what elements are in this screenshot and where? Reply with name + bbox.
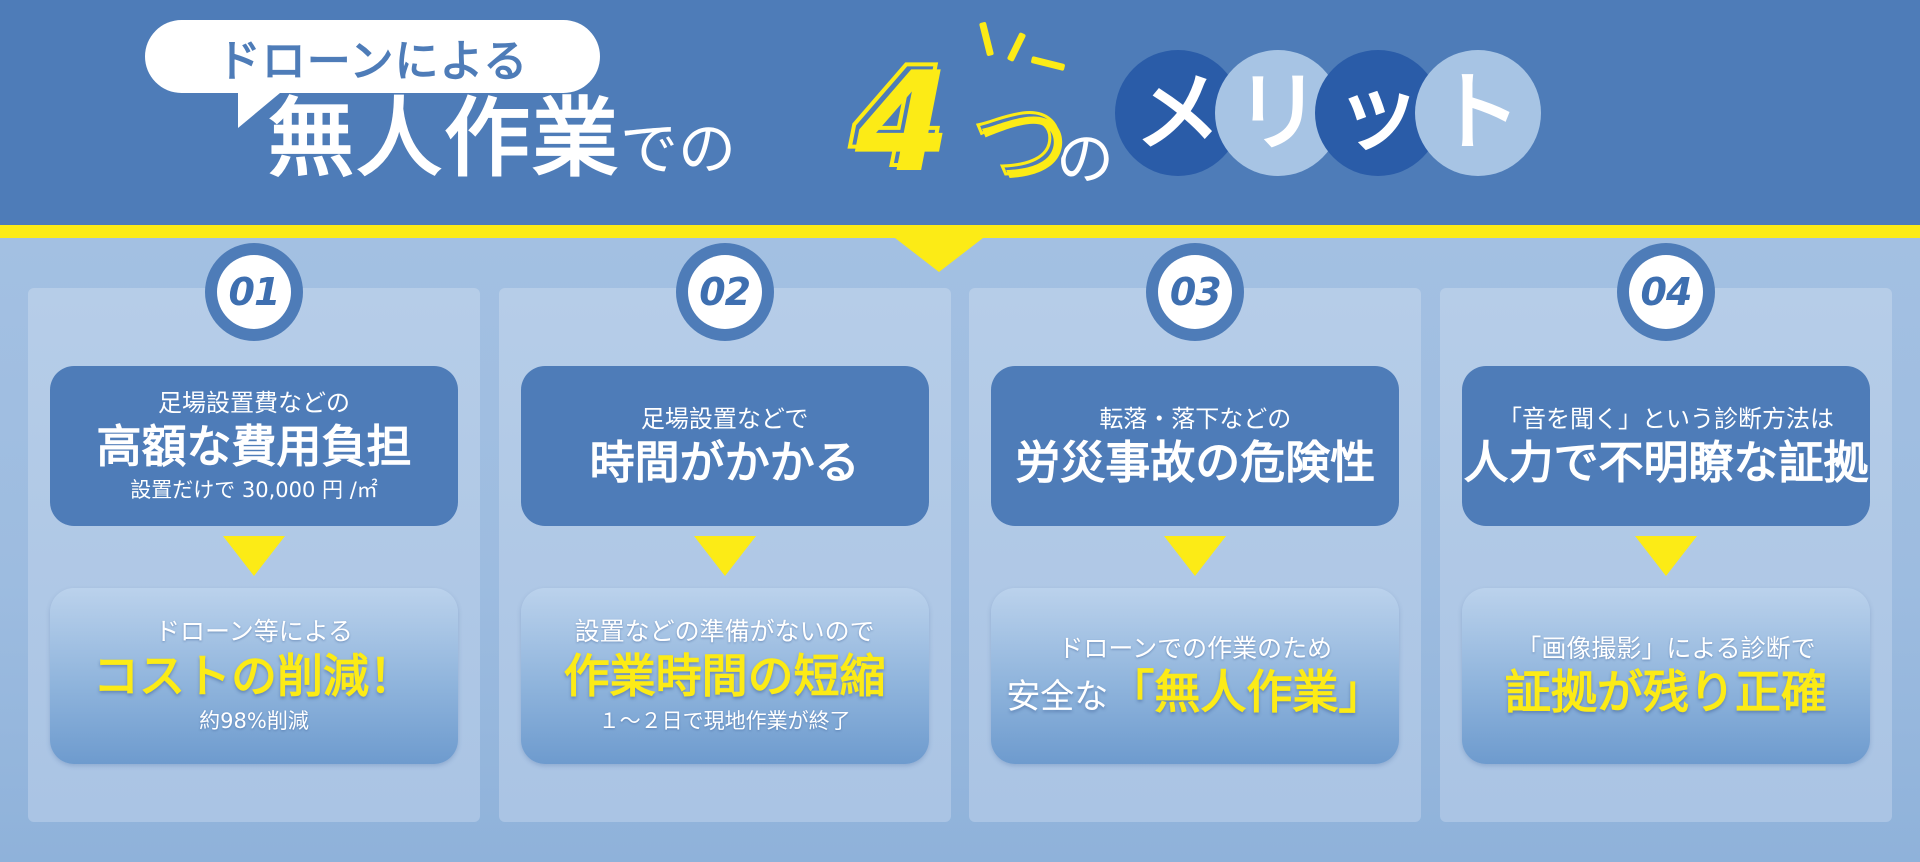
problem-title: 労災事故の危険性 bbox=[1015, 438, 1375, 488]
benefit-note: １～２日で現地作業が終了 bbox=[599, 708, 851, 735]
problem-card-01: 足場設置費などの 高額な費用負担 設置だけで 30,000 円 /㎡ bbox=[50, 366, 458, 526]
problem-lead: 転落・落下などの bbox=[1099, 404, 1291, 434]
benefit-note: 約98%削減 bbox=[199, 708, 309, 735]
benefit-lead: ドローンでの作業のため bbox=[1058, 633, 1332, 664]
headline-particle-de: での bbox=[620, 120, 736, 182]
benefit-title: 「無人作業」 bbox=[1108, 665, 1384, 719]
benefit-title: コストの削減！ bbox=[93, 650, 415, 703]
problem-card-04: 「音を聞く」という診断方法は 人力で不明瞭な証拠 bbox=[1462, 366, 1870, 526]
yellow-divider bbox=[0, 225, 1920, 238]
sparkle-icon bbox=[979, 22, 994, 57]
badge-03: 03 bbox=[1146, 243, 1244, 341]
problem-title: 高額な費用負担 bbox=[96, 422, 411, 472]
arrow-down-icon bbox=[1164, 536, 1226, 576]
merit-word: メ リ ッ ト bbox=[1115, 50, 1545, 190]
speech-bubble-text: ドローンによる bbox=[217, 25, 528, 89]
problem-lead: 足場設置などで bbox=[641, 404, 809, 434]
badge-number: 04 bbox=[1629, 255, 1703, 329]
big-number-four-outline: 4 bbox=[850, 49, 946, 187]
big-four-graphic: 4 4 つ つ bbox=[855, 46, 1085, 192]
sparkle-icon bbox=[1031, 56, 1066, 71]
benefit-card-02: 設置などの準備がないので 作業時間の短縮 １～２日で現地作業が終了 bbox=[521, 588, 929, 764]
problem-card-03: 転落・落下などの 労災事故の危険性 bbox=[991, 366, 1399, 526]
badge-04: 04 bbox=[1617, 243, 1715, 341]
problem-title: 時間がかかる bbox=[590, 438, 860, 488]
infographic-page: ドローンによる 無人作業 での 4 4 つ つ の メ リ ッ ト bbox=[0, 0, 1920, 862]
benefit-lead: 設置などの準備がないので bbox=[575, 616, 875, 647]
badge-number: 01 bbox=[217, 255, 291, 329]
benefit-columns: 01 足場設置費などの 高額な費用負担 設置だけで 30,000 円 /㎡ ドロ… bbox=[0, 238, 1920, 862]
problem-title: 人力で不明瞭な証拠 bbox=[1463, 438, 1868, 488]
benefit-card-04: 「画像撮影」による診断で 証拠が残り正確 bbox=[1462, 588, 1870, 764]
merit-char-to: ト bbox=[1415, 50, 1541, 176]
benefit-column-04: 04 「音を聞く」という診断方法は 人力で不明瞭な証拠 「画像撮影」による診断で… bbox=[1440, 288, 1892, 822]
arrow-down-icon bbox=[1635, 536, 1697, 576]
benefit-column-01: 01 足場設置費などの 高額な費用負担 設置だけで 30,000 円 /㎡ ドロ… bbox=[28, 288, 480, 822]
benefit-column-02: 02 足場設置などで 時間がかかる 設置などの準備がないので 作業時間の短縮 １… bbox=[499, 288, 951, 822]
benefit-card-03: ドローンでの作業のため 安全な「無人作業」 bbox=[991, 588, 1399, 764]
badge-number: 02 bbox=[688, 255, 762, 329]
benefit-lead: ドローン等による bbox=[155, 616, 353, 647]
benefit-lead: 「画像撮影」による診断で bbox=[1516, 633, 1815, 664]
benefit-title-row: 安全な「無人作業」 bbox=[1006, 666, 1384, 719]
benefits-section: 01 足場設置費などの 高額な費用負担 設置だけで 30,000 円 /㎡ ドロ… bbox=[0, 238, 1920, 862]
benefit-title-prefix: 安全な bbox=[1006, 677, 1108, 717]
benefit-title: 作業時間の短縮 bbox=[564, 650, 886, 703]
divider-notch-icon bbox=[895, 238, 983, 272]
problem-note: 設置だけで 30,000 円 /㎡ bbox=[130, 477, 378, 504]
sparkle-icon bbox=[1007, 32, 1026, 62]
badge-02: 02 bbox=[676, 243, 774, 341]
badge-number: 03 bbox=[1158, 255, 1232, 329]
problem-lead: 足場設置費などの bbox=[158, 388, 350, 418]
counter-tsu-outline: つ bbox=[971, 94, 1067, 190]
arrow-down-icon bbox=[694, 536, 756, 576]
problem-lead: 「音を聞く」という診断方法は bbox=[1498, 404, 1834, 434]
header-banner: ドローンによる 無人作業 での 4 4 つ つ の メ リ ッ ト bbox=[0, 0, 1920, 232]
headline-main: 無人作業 bbox=[268, 96, 620, 182]
benefit-column-03: 03 転落・落下などの 労災事故の危険性 ドローンでの作業のため 安全な「無人作… bbox=[969, 288, 1421, 822]
page-title: 無人作業 での bbox=[268, 82, 736, 182]
badge-01: 01 bbox=[205, 243, 303, 341]
problem-card-02: 足場設置などで 時間がかかる bbox=[521, 366, 929, 526]
benefit-title: 証拠が残り正確 bbox=[1505, 666, 1827, 719]
arrow-down-icon bbox=[223, 536, 285, 576]
benefit-card-01: ドローン等による コストの削減！ 約98%削減 bbox=[50, 588, 458, 764]
